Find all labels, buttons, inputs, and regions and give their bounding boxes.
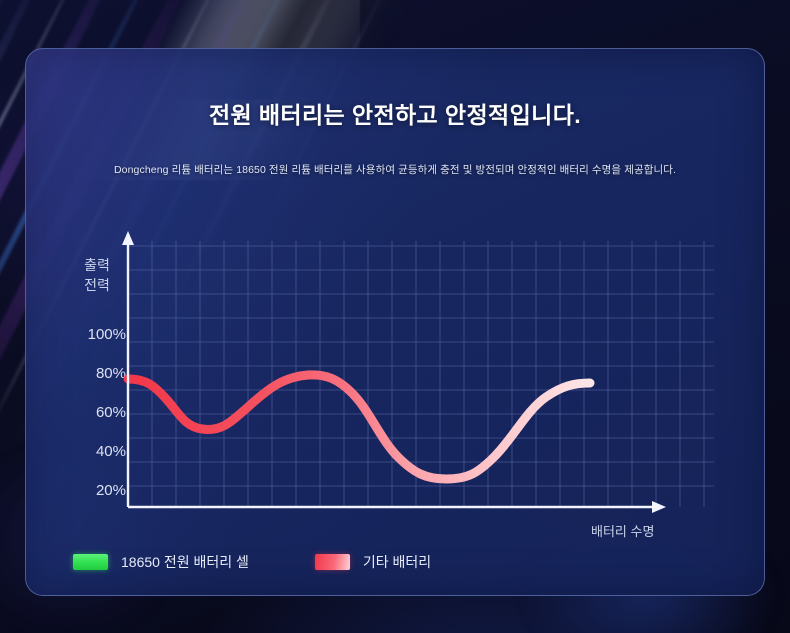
chart: 출력 전력 배터리 수명 100% 80% 60% 40% 20% bbox=[26, 49, 765, 596]
legend-swatch-green bbox=[73, 554, 108, 570]
x-axis-arrow bbox=[652, 501, 666, 513]
chart-plot bbox=[26, 49, 765, 596]
content-card: 전원 배터리는 안전하고 안정적입니다. Dongcheng 리튬 배터리는 1… bbox=[25, 48, 765, 596]
chart-legend: 18650 전원 배터리 셀 기타 배터리 bbox=[73, 552, 431, 572]
y-axis-arrow bbox=[122, 231, 134, 245]
chart-grid bbox=[128, 241, 714, 507]
legend-label: 18650 전원 배터리 셀 bbox=[121, 552, 249, 572]
series-line-other-battery bbox=[128, 375, 590, 479]
slide-root: 전원 배터리는 안전하고 안정적입니다. Dongcheng 리튬 배터리는 1… bbox=[0, 0, 790, 633]
legend-label: 기타 배터리 bbox=[363, 552, 431, 572]
legend-item-18650-cell[interactable]: 18650 전원 배터리 셀 bbox=[73, 552, 249, 572]
legend-swatch-red bbox=[315, 554, 350, 570]
legend-item-other-battery[interactable]: 기타 배터리 bbox=[315, 552, 431, 572]
chart-axes bbox=[122, 231, 666, 513]
streak-1 bbox=[0, 0, 22, 426]
